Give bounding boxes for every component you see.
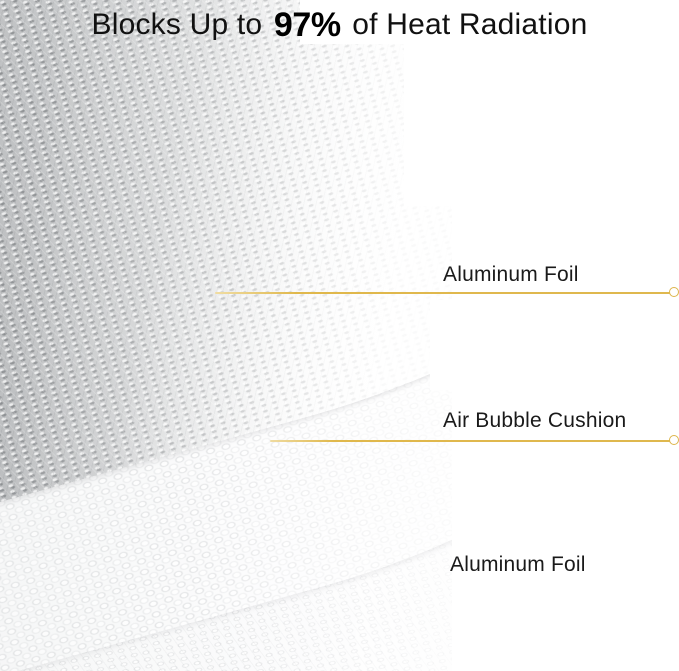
callout-aluminum-foil-bottom: Aluminum Foil xyxy=(0,0,679,671)
callout-label: Aluminum Foil xyxy=(450,554,586,575)
product-infographic: Blocks Up to 97% of Heat Radiation Alumi… xyxy=(0,0,679,671)
